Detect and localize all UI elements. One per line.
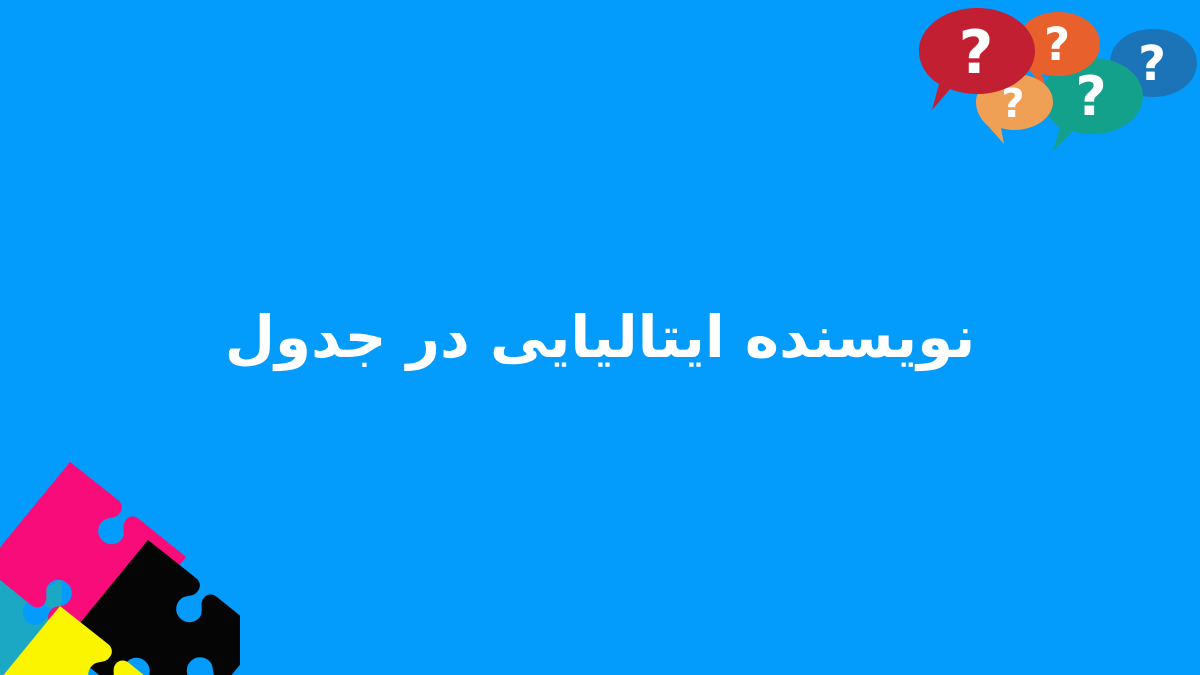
- speech-bubbles-group: ? ? ? ? ?: [910, 0, 1200, 175]
- svg-text:?: ?: [959, 18, 994, 88]
- puzzle-pieces-group: [0, 450, 240, 675]
- svg-text:?: ?: [1044, 18, 1070, 71]
- banner-canvas: ? ? ? ? ? نویسنده: [0, 0, 1200, 675]
- svg-text:?: ?: [1138, 36, 1166, 92]
- page-title: نویسنده ایتالیایی در جدول: [205, 301, 996, 374]
- svg-text:?: ?: [1075, 65, 1106, 128]
